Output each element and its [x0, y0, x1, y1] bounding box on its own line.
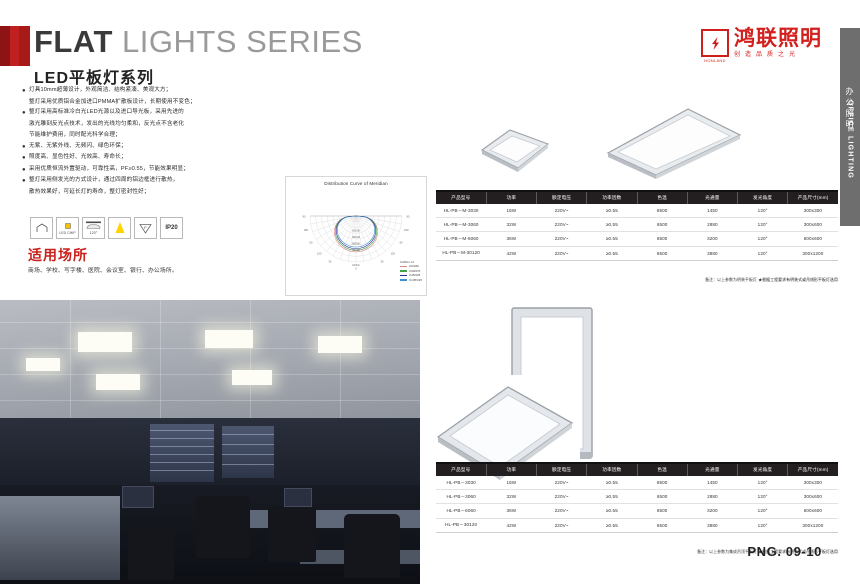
table-cell: ≥0.55	[587, 246, 637, 260]
ip20-icon: IP20	[160, 217, 183, 239]
svg-text:0: 0	[355, 267, 357, 271]
table-cell: 36W	[486, 232, 536, 246]
table-header-row: 产品型号功率额定电压功率因数色温光通量发光角度产品尺寸(mm)	[436, 192, 838, 204]
table-cell: ≥0.55	[587, 204, 637, 218]
table-cell: 6500	[637, 204, 687, 218]
table-cell: 300x300	[788, 476, 838, 490]
svg-text:Cd/Klm: Cd/Klm	[352, 264, 360, 267]
chart-title: Distribution Curve of Meridian	[286, 177, 426, 186]
column-header: 产品型号	[436, 464, 486, 476]
led-chip-icon: LED CHIP	[56, 217, 79, 239]
bullet-dot-icon: ●	[22, 142, 29, 152]
office-interior-photo: HONLAND PRODUCT HANDBOOK WWW.HONLAND-LIG…	[0, 300, 420, 584]
bullet-dot-icon: ●	[22, 108, 29, 118]
table-cell: 32W	[486, 490, 536, 504]
column-header: 产品型号	[436, 192, 486, 204]
table-cell: 6500	[637, 504, 687, 518]
feature-item: ●整灯采用侧发光的方式设计，通过四周的铝边框进行散热，	[22, 176, 287, 186]
feature-text: 节能维护费用，同时配光科学合理；	[29, 131, 121, 140]
svg-text:60: 60	[310, 241, 313, 245]
feature-item: ●无紫、无紫外线、无频闪、绿色环保；	[22, 142, 287, 152]
table-cell: 6500	[637, 476, 687, 490]
column-header: 色温	[637, 192, 687, 204]
page-number: PNG. 09-10	[747, 544, 822, 559]
lens-label: 120°	[90, 231, 97, 235]
square-panel-light	[470, 110, 560, 185]
column-header: 功率因数	[587, 464, 637, 476]
table-cell: 3200	[687, 504, 737, 518]
table-cell: 42W	[486, 518, 536, 532]
table-cell: 300x600	[788, 218, 838, 232]
svg-text:F: F	[144, 225, 147, 230]
applicable-places-title: 适用场所	[28, 245, 88, 265]
feature-text: 整灯采用高标准冷白光LED光源以及进口导光板，采用先进的	[29, 108, 184, 118]
table-cell: HL-PB－M-3060	[436, 218, 486, 232]
column-header: 光通量	[687, 192, 737, 204]
rectangular-panel-light	[590, 95, 750, 186]
svg-text:30: 30	[329, 260, 332, 264]
table-cell: ≥0.55	[587, 504, 637, 518]
section-tab-office-lighting: 办公照明 OFFICE LIGHTING	[840, 28, 860, 226]
svg-text:150: 150	[404, 228, 409, 232]
legend-swatch	[400, 266, 407, 268]
column-header: 功率	[486, 464, 536, 476]
brand-logo: HONLAND 鸿联照明 创造品质之光	[701, 28, 822, 58]
table-cell: 32W	[486, 218, 536, 232]
feature-text: 整灯采用优质铝合金加进口PMMA扩散板设计，长期使用不变色；	[29, 98, 196, 107]
legend-swatch	[400, 279, 407, 281]
column-header: 功率	[486, 192, 536, 204]
table-cell: 220V~	[537, 490, 587, 504]
brand-slogan: 创造品质之光	[734, 52, 822, 58]
legend-label: C135/315	[409, 278, 422, 282]
beam-icon	[108, 217, 131, 239]
column-header: 产品尺寸(mm)	[788, 192, 838, 204]
table-cell: 120°	[738, 204, 788, 218]
table-cell: 300x1200	[788, 246, 838, 260]
table-cell: 3880	[687, 518, 737, 532]
table-cell: ≥0.55	[587, 218, 637, 232]
table-cell: ≥0.55	[587, 232, 637, 246]
feature-item: 激光雕刻反光点技术，发出的光线均匀柔和，反光点不含老化	[22, 120, 287, 129]
table-row: HL-PB－M-3012042W220V~≥0.5565003880120°30…	[436, 246, 838, 260]
feature-item: 整灯采用优质铝合金加进口PMMA扩散板设计，长期使用不变色；	[22, 98, 287, 107]
table-cell: 36W	[486, 504, 536, 518]
column-header: 额定电压	[537, 464, 587, 476]
table-cell: 3200	[687, 232, 737, 246]
feature-list: ●灯具10mm超薄设计，外观简洁、结构紧凑、美观大方；整灯采用优质铝合金加进口P…	[22, 86, 287, 199]
feature-text: 散热效果好，可延长灯的寿命，整灯密封性好；	[29, 188, 150, 197]
table-cell: HL-PB－3060	[436, 490, 486, 504]
svg-text:150: 150	[304, 228, 309, 232]
photo-ceiling	[0, 300, 420, 425]
light-distribution-chart: Distribution Curve of Meridian 906030030…	[285, 176, 427, 296]
table-cell: 1450	[687, 204, 737, 218]
page-title-bold: FLAT	[34, 24, 113, 59]
table-cell: 120°	[738, 246, 788, 260]
feature-item: 散热效果好，可延长灯的寿命，整灯密封性好；	[22, 188, 287, 197]
column-header: 功率因数	[587, 192, 637, 204]
table-cell: ≥0.55	[587, 476, 637, 490]
spec-icon-strip: LED CHIP 120° F IP20	[30, 217, 183, 239]
table-cell: 1450	[687, 476, 737, 490]
section-tab-label-en: OFFICE LIGHTING	[847, 100, 854, 179]
table-cell: 600x600	[788, 504, 838, 518]
table-cell: 6500	[637, 490, 687, 504]
table-cell: 120°	[738, 476, 788, 490]
feature-text: 激光雕刻反光点技术，发出的光线均匀柔和，反光点不含老化	[29, 120, 184, 129]
page-title-rest: LIGHTS SERIES	[113, 24, 363, 59]
note-mark-top: ★根据工程要求有明装式或吊线形平板灯选用	[758, 277, 838, 282]
svg-text:393.00: 393.00	[352, 236, 360, 239]
table-cell: 120°	[738, 504, 788, 518]
table-header-row: 产品型号功率额定电压功率因数色温光通量发光角度产品尺寸(mm)	[436, 464, 838, 476]
legend-item: C135/315	[400, 278, 422, 282]
bullet-dot-icon: ●	[22, 86, 29, 96]
table-cell: 6500	[637, 246, 687, 260]
table-cell: 220V~	[537, 246, 587, 260]
svg-text:90: 90	[303, 215, 306, 219]
table-cell: 220V~	[537, 204, 587, 218]
led-chip-label: LED CHIP	[59, 231, 75, 235]
table-cell: HL-PB－3030	[436, 476, 486, 490]
page-title-block: FLAT LIGHTS SERIES LED平板灯系列	[34, 22, 363, 88]
note-main-top: 备注：以上参数为明装平板灯	[705, 277, 757, 282]
table-cell: 220V~	[537, 218, 587, 232]
table-cell: HL-PB－M-6060	[436, 232, 486, 246]
red-accent-bars	[0, 26, 30, 66]
svg-text:60: 60	[400, 241, 403, 245]
ip20-label: IP20	[165, 225, 177, 231]
table-cell: 220V~	[537, 504, 587, 518]
table-cell: 16W	[486, 204, 536, 218]
photo-window-2	[222, 426, 274, 478]
legend-swatch	[400, 275, 407, 277]
table-row: HL-PB－M-606036W220V~≥0.5565003200120°600…	[436, 232, 838, 246]
svg-text:30: 30	[381, 260, 384, 264]
legend-swatch	[400, 270, 407, 272]
chart-legend: Cd/Klm cdC0/180C90/270C45/225C135/315	[400, 260, 422, 282]
svg-text:120: 120	[391, 251, 396, 255]
svg-text:196.00: 196.00	[352, 230, 360, 233]
table-cell: 220V~	[537, 518, 587, 532]
feature-text: 无紫、无紫外线、无频闪、绿色环保；	[29, 142, 127, 152]
column-header: 发光角度	[738, 464, 788, 476]
applicable-places-text: 商场、学校、写字楼、医院、会议室、银行、办公场所。	[28, 265, 178, 274]
bullet-dot-icon	[22, 131, 29, 140]
logo-mark-caption: HONLAND	[703, 58, 727, 63]
lens-icon: 120°	[82, 217, 105, 239]
svg-text:589.00: 589.00	[352, 242, 360, 245]
column-header: 光通量	[687, 464, 737, 476]
table-cell: 16W	[486, 476, 536, 490]
table-cell: 600x600	[788, 232, 838, 246]
table-cell: HL-PB－30120	[436, 518, 486, 532]
table-cell: 300x600	[788, 490, 838, 504]
table-cell: 120°	[738, 490, 788, 504]
feature-item: ●灯具10mm超薄设计，外观简洁、结构紧凑、美观大方；	[22, 86, 287, 96]
feature-item: ●整灯采用高标准冷白光LED光源以及进口导光板，采用先进的	[22, 108, 287, 118]
bullet-dot-icon: ●	[22, 165, 29, 175]
table-note-top: 备注：以上参数为明装平板灯 ★根据工程要求有明装式或吊线形平板灯选用	[436, 277, 838, 283]
table-cell: HL-PB－M-30120	[436, 246, 486, 260]
bullet-dot-icon: ●	[22, 176, 29, 186]
feature-text: 灯具10mm超薄设计，外观简洁、结构紧凑、美观大方；	[29, 86, 172, 96]
spec-table-top: 产品型号功率额定电压功率因数色温光通量发光角度产品尺寸(mm) HL-PB－M-…	[436, 192, 838, 261]
table-cell: ≥0.55	[587, 518, 637, 532]
table-cell: 300x300	[788, 204, 838, 218]
table-cell: HL-PB－6060	[436, 504, 486, 518]
column-header: 产品尺寸(mm)	[788, 464, 838, 476]
table-cell: 6500	[637, 218, 687, 232]
table-cell: 120°	[738, 218, 788, 232]
feature-text: 采用优质恒流外置驱动，可靠性高，PF≥0.55，节能效果明显；	[29, 165, 189, 175]
column-header: 发光角度	[738, 192, 788, 204]
indoor-icon	[30, 217, 53, 239]
brand-name-cn: 鸿联照明	[734, 28, 822, 49]
feature-item: 节能维护费用，同时配光科学合理；	[22, 131, 287, 140]
table-cell: 42W	[486, 246, 536, 260]
column-header: 额定电压	[537, 192, 587, 204]
table-cell: 6500	[637, 518, 687, 532]
table-row: HL-PB－M-303016W220V~≥0.5565001450120°300…	[436, 204, 838, 218]
table-cell: 220V~	[537, 476, 587, 490]
honland-mark-icon: HONLAND	[701, 29, 729, 57]
table-row: HL-PB－306032W220V~≥0.5565002880120°300x6…	[436, 490, 838, 504]
table-cell: 3880	[687, 246, 737, 260]
column-header: 色温	[637, 464, 687, 476]
table-cell: HL-PB－M-3030	[436, 204, 486, 218]
feature-text: 照度高、显色性好、光效高、寿命长；	[29, 153, 127, 163]
catalog-page: FLAT LIGHTS SERIES LED平板灯系列 HONLAND 鸿联照明…	[0, 0, 860, 584]
svg-text:120: 120	[317, 251, 322, 255]
feature-text: 整灯采用侧发光的方式设计，通过四周的铝边框进行散热，	[29, 176, 178, 186]
bullet-dot-icon	[22, 120, 29, 129]
table-row: HL-PB－303016W220V~≥0.5565001450120°300x3…	[436, 476, 838, 490]
f-mark-icon: F	[134, 217, 157, 239]
bullet-dot-icon: ●	[22, 153, 29, 163]
table-cell: 300x1200	[788, 518, 838, 532]
bullet-dot-icon	[22, 98, 29, 107]
spec-table-bottom: 产品型号功率额定电压功率因数色温光通量发光角度产品尺寸(mm) HL-PB－30…	[436, 464, 838, 533]
table-row: HL-PB－3012042W220V~≥0.5565003880120°300x…	[436, 518, 838, 532]
table-row: HL-PB－606036W220V~≥0.5565003200120°600x6…	[436, 504, 838, 518]
feature-item: ●照度高、显色性好、光效高、寿命长；	[22, 153, 287, 163]
table-cell: 2880	[687, 218, 737, 232]
photo-window	[150, 424, 214, 482]
table-cell: 120°	[738, 518, 788, 532]
page-subtitle: LED平板灯系列	[34, 64, 363, 88]
table-cell: ≥0.55	[587, 490, 637, 504]
table-cell: 220V~	[537, 232, 587, 246]
table-cell: 2880	[687, 490, 737, 504]
table-cell: 120°	[738, 232, 788, 246]
bullet-dot-icon	[22, 188, 29, 197]
svg-text:784.65: 784.65	[352, 249, 360, 252]
svg-text:90: 90	[407, 215, 410, 219]
table-cell: 6500	[637, 232, 687, 246]
table-row: HL-PB－M-306032W220V~≥0.5565002880120°300…	[436, 218, 838, 232]
feature-item: ●采用优质恒流外置驱动，可靠性高，PF≥0.55，节能效果明显；	[22, 165, 287, 175]
